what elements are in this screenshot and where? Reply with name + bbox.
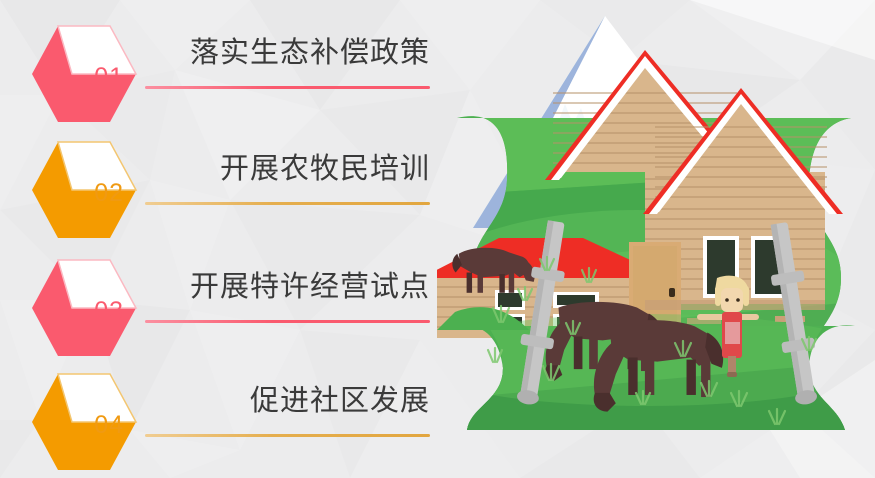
list-item-label: 落实生态补偿政策 bbox=[145, 32, 430, 72]
hexagon-badge-04[interactable]: 04 bbox=[32, 372, 136, 472]
list-item-body: 落实生态补偿政策 bbox=[145, 18, 430, 128]
hexagon-badge-03[interactable]: 03 bbox=[32, 258, 136, 358]
slide-canvas: 01 落实生态补偿政策 02 开展农牧民培训 bbox=[0, 0, 875, 478]
underline-rule bbox=[145, 202, 430, 205]
list-item[interactable]: 02 开展农牧民培训 bbox=[0, 134, 452, 244]
list-item-body: 开展特许经营试点 bbox=[145, 252, 430, 362]
step-number: 01 bbox=[32, 24, 136, 124]
hexagon-badge-02[interactable]: 02 bbox=[32, 140, 136, 240]
step-number: 03 bbox=[32, 258, 136, 358]
list-item-label: 促进社区发展 bbox=[145, 380, 430, 420]
list-item[interactable]: 01 落实生态补偿政策 bbox=[0, 18, 452, 128]
list-item[interactable]: 03 开展特许经营试点 bbox=[0, 252, 452, 362]
step-number: 04 bbox=[32, 372, 136, 472]
underline-rule bbox=[145, 320, 430, 323]
list-item-body: 促进社区发展 bbox=[145, 366, 430, 476]
pastoral-village-illustration bbox=[437, 0, 875, 478]
list-item-label: 开展农牧民培训 bbox=[145, 148, 430, 188]
list-item-body: 开展农牧民培训 bbox=[145, 134, 430, 244]
underline-rule bbox=[145, 434, 430, 437]
list-item-label: 开展特许经营试点 bbox=[145, 266, 430, 306]
step-number: 02 bbox=[32, 140, 136, 240]
step-list: 01 落实生态补偿政策 02 开展农牧民培训 bbox=[0, 0, 452, 478]
hexagon-badge-01[interactable]: 01 bbox=[32, 24, 136, 124]
underline-rule bbox=[145, 86, 430, 89]
list-item[interactable]: 04 促进社区发展 bbox=[0, 366, 452, 476]
